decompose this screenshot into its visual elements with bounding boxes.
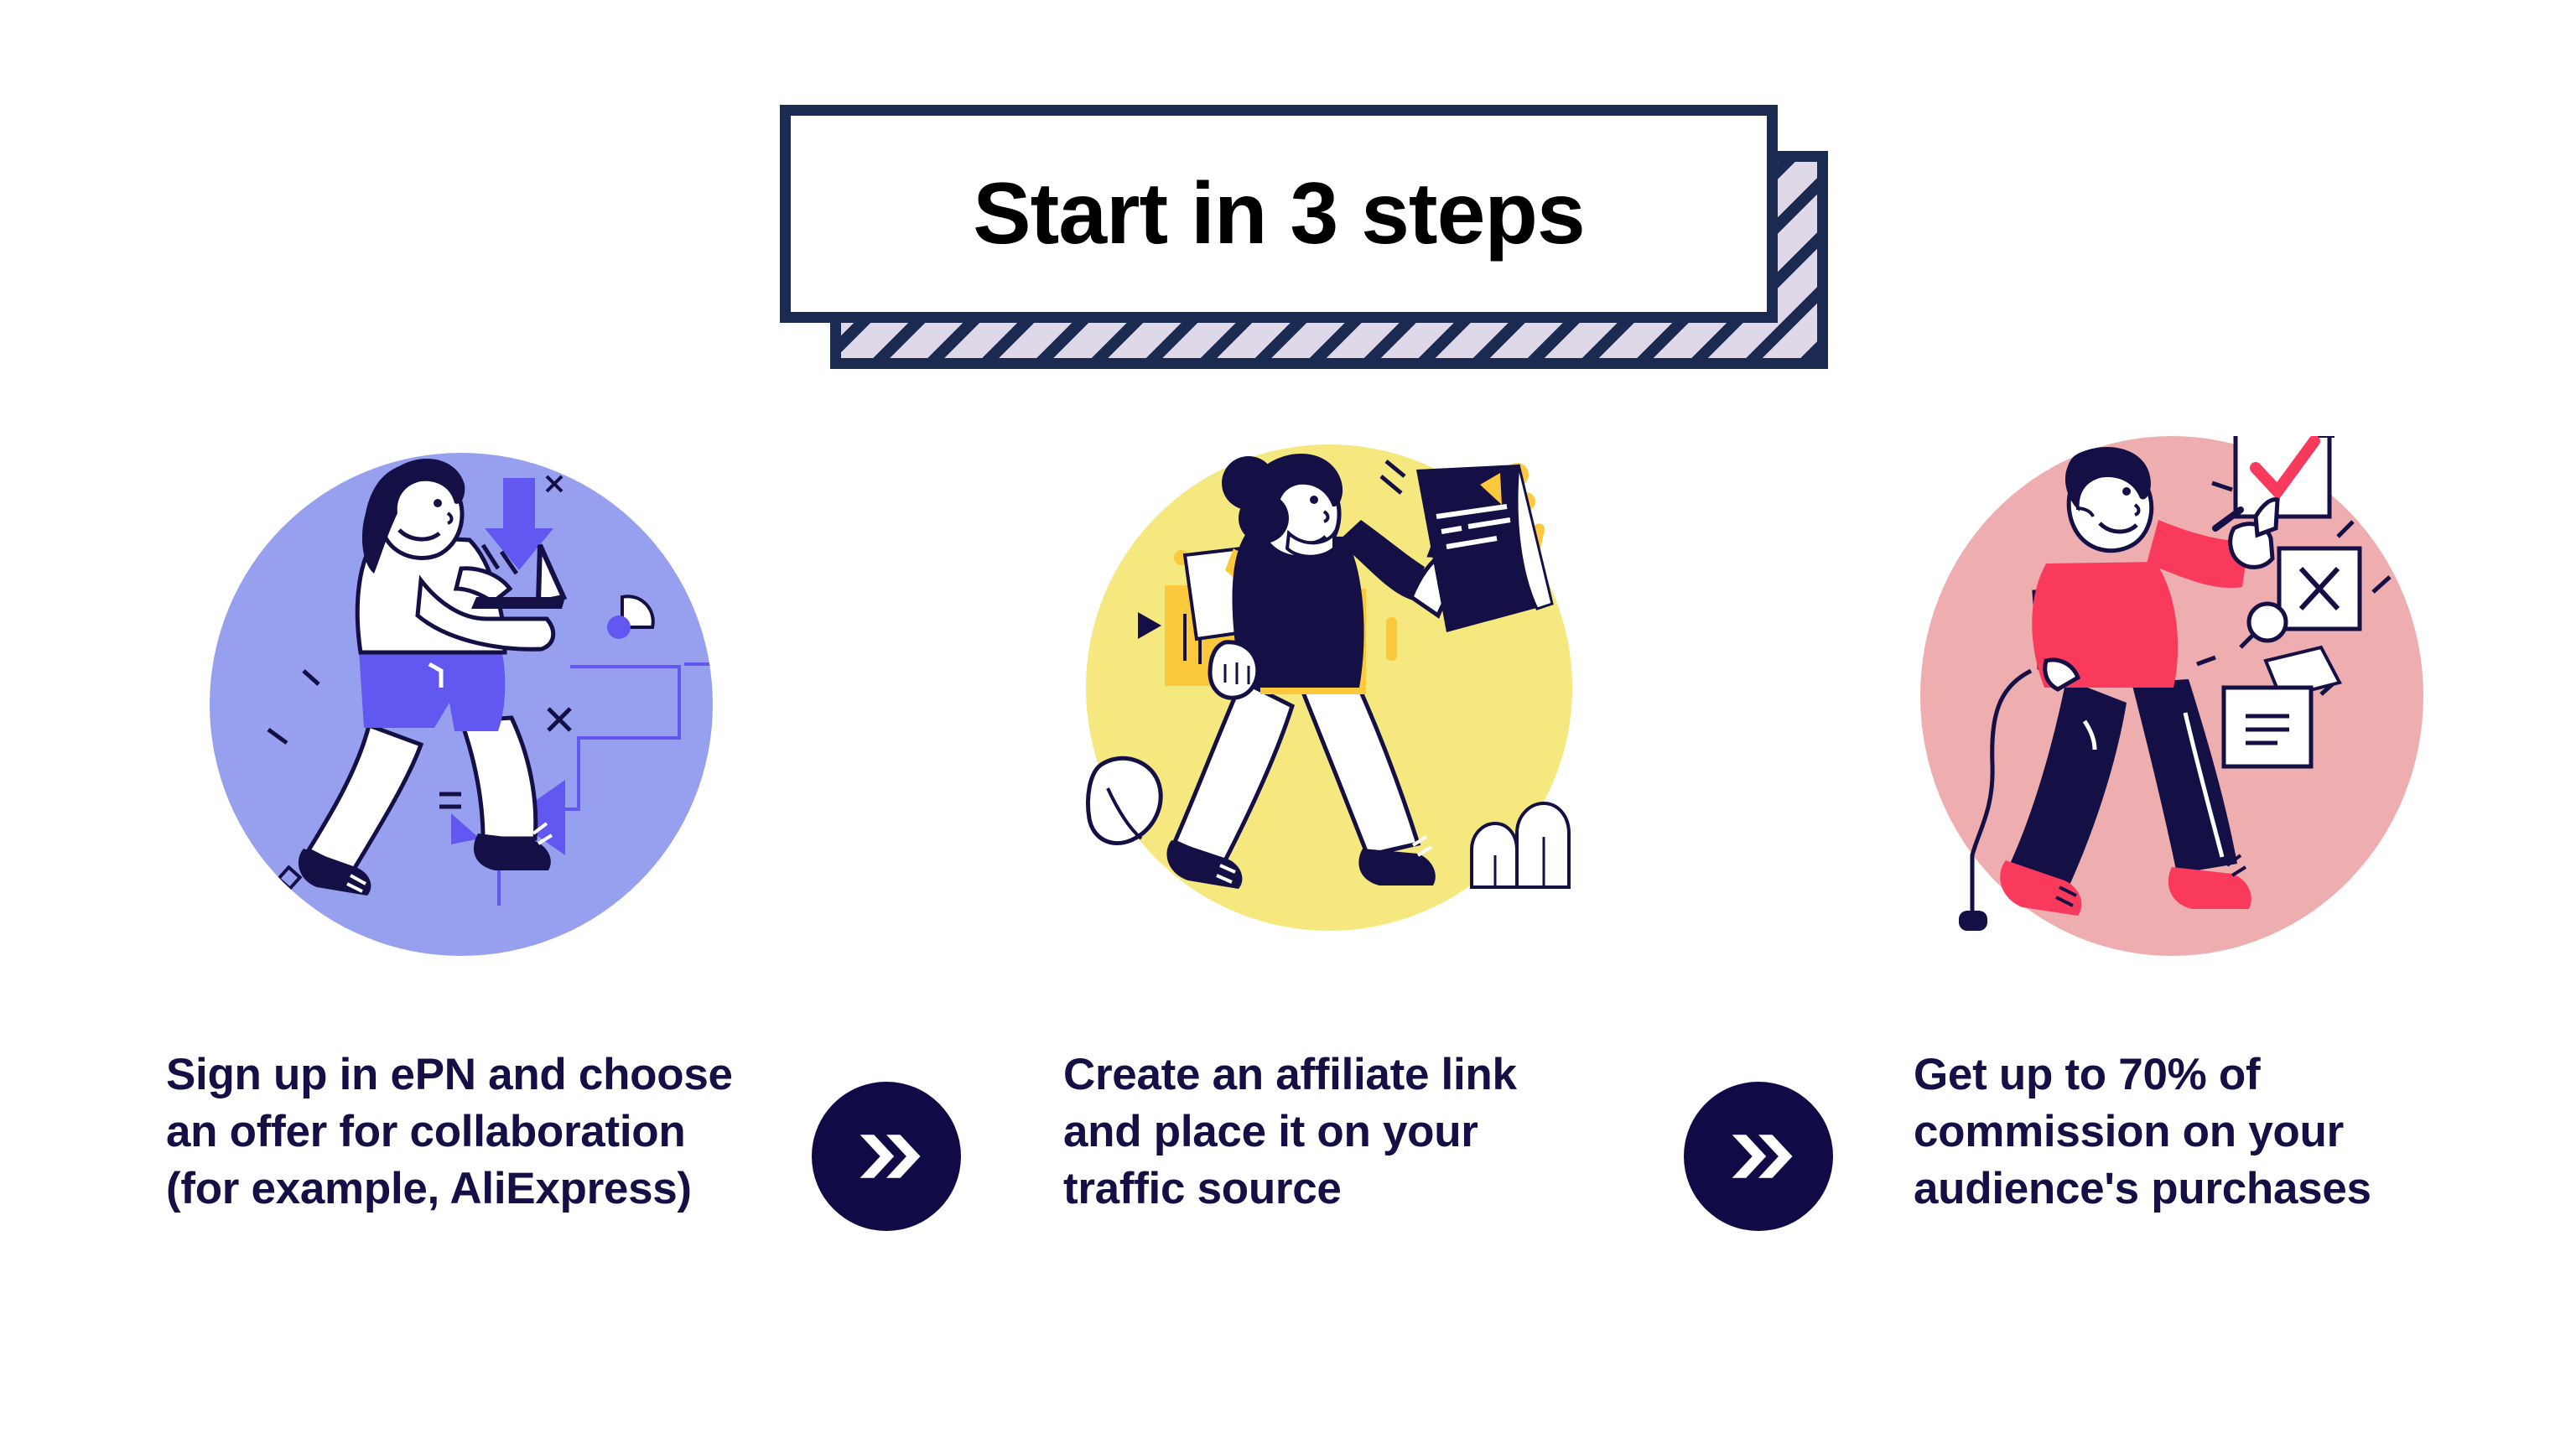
caption-line: commission on your <box>1914 1104 2501 1161</box>
step-connector-2 <box>1684 1082 1833 1231</box>
person-reading-document-illustration <box>1078 436 1597 981</box>
steps-row <box>0 436 2576 1023</box>
page-title: Start in 3 steps <box>973 170 1585 257</box>
double-chevron-right-icon <box>848 1118 925 1195</box>
caption-line: Get up to 70% of <box>1914 1046 2501 1104</box>
step-1-illustration <box>210 436 730 981</box>
title-banner: Start in 3 steps <box>780 105 1828 369</box>
double-chevron-right-icon <box>1720 1118 1797 1195</box>
step-2-caption: Create an affiliate link and place it on… <box>1063 1046 1650 1217</box>
caption-line: traffic source <box>1063 1161 1650 1218</box>
title-banner-box: Start in 3 steps <box>780 105 1778 323</box>
caption-line: (for example, AliExpress) <box>166 1161 854 1218</box>
caption-line: and place it on your <box>1063 1104 1650 1161</box>
caption-line: Create an affiliate link <box>1063 1046 1650 1104</box>
person-checking-boxes-illustration <box>1920 436 2440 981</box>
step-1-caption: Sign up in ePN and choose an offer for c… <box>166 1046 854 1217</box>
caption-line: Sign up in ePN and choose <box>166 1046 854 1104</box>
person-with-laptop-illustration <box>210 436 730 981</box>
caption-line: audience's purchases <box>1914 1161 2501 1218</box>
step-2-illustration <box>1078 436 1597 981</box>
caption-line: an offer for collaboration <box>166 1104 854 1161</box>
step-3-illustration <box>1920 436 2440 981</box>
infographic-canvas: Start in 3 steps <box>0 0 2576 1449</box>
step-3-caption: Get up to 70% of commission on your audi… <box>1914 1046 2501 1217</box>
